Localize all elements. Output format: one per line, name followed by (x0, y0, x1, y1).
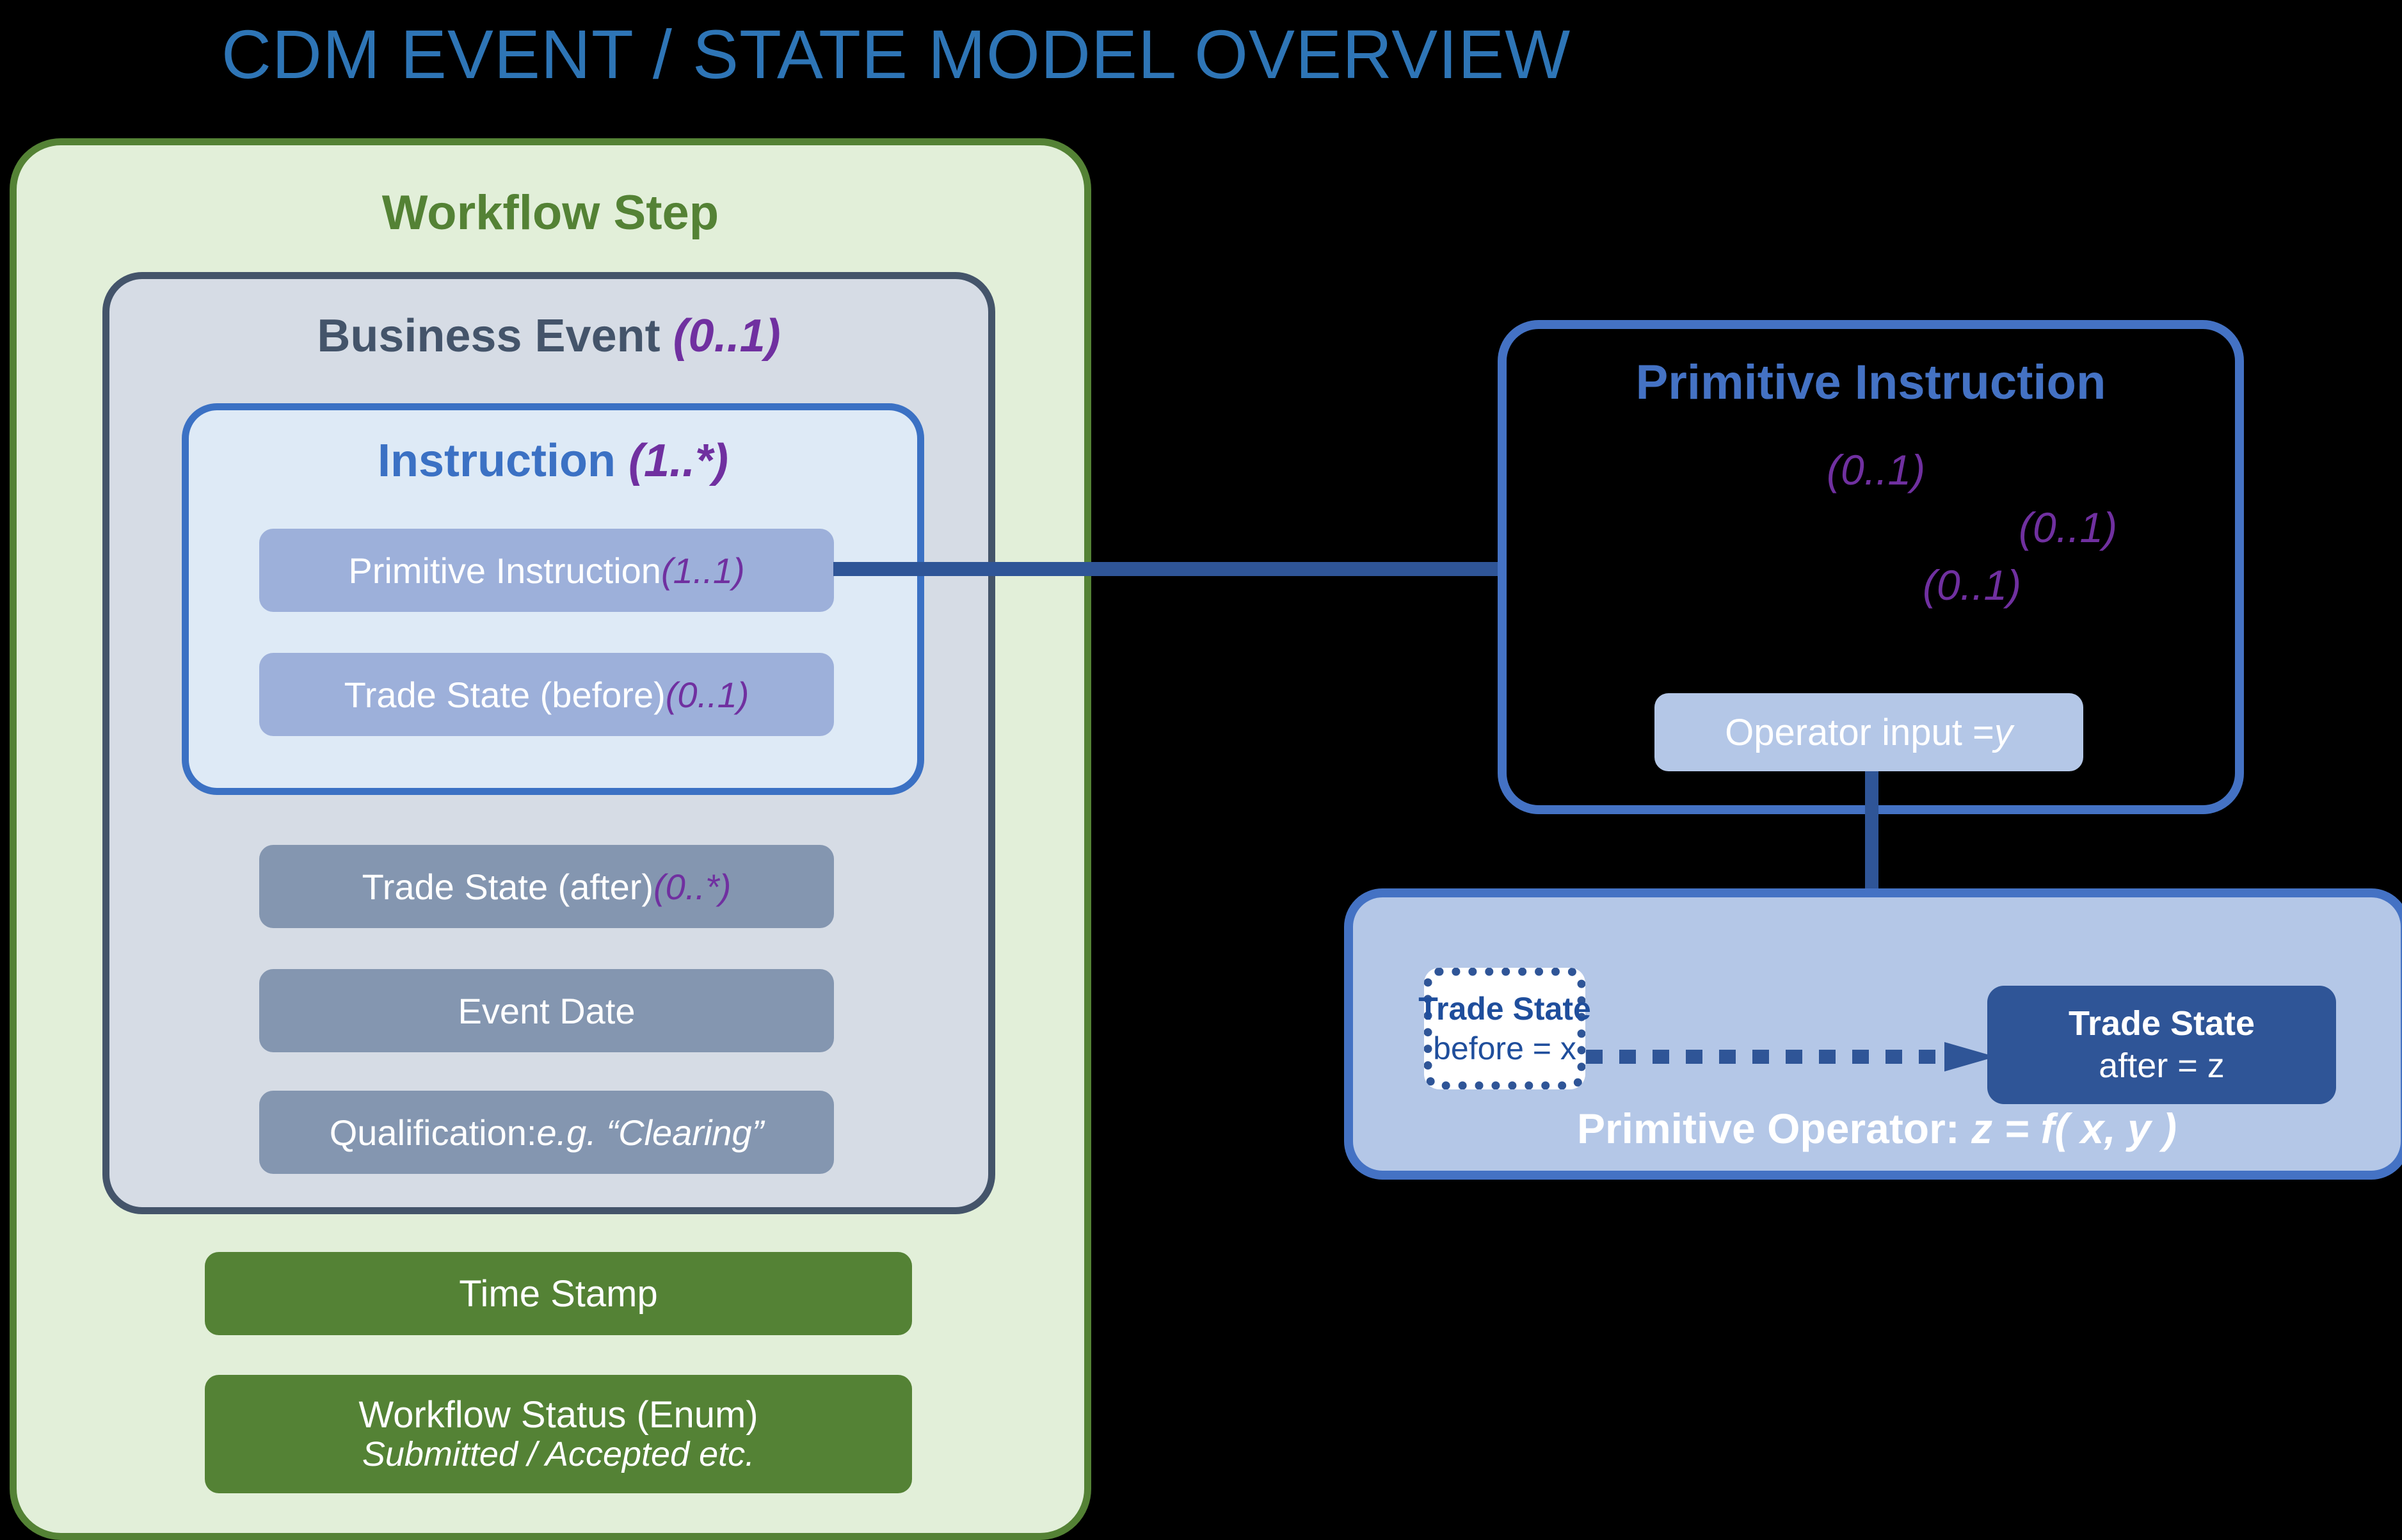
attribute-event-date[interactable]: Event Date (259, 969, 834, 1052)
primitive-instruction-cardinality-2: (0..1) (2019, 503, 2117, 552)
primitive-instruction-cardinality-3: (0..1) (1923, 561, 2021, 609)
attribute-cardinality: (0..*) (653, 866, 731, 908)
connector-instruction-to-primitive-instruction (833, 562, 1501, 576)
business-event-cardinality: (0..1) (673, 310, 781, 362)
business-event-title: Business Event (0..1) (109, 310, 988, 362)
primitive-instruction-title: Primitive Instruction (1507, 355, 2235, 410)
instruction-cardinality: (1..*) (629, 435, 728, 486)
workflow-step-title: Workflow Step (17, 185, 1084, 241)
attribute-label: Primitive Instruction (348, 550, 661, 591)
primitive-operator-formula: z = f( x, y ) (1971, 1105, 2177, 1152)
attribute-example: e.g. “Clearing” (536, 1112, 764, 1153)
attribute-label: Time Stamp (459, 1272, 657, 1315)
card-trade-state-after[interactable]: Trade State after = z (1987, 986, 2336, 1104)
attribute-label: Operator input = (1725, 711, 1994, 754)
attribute-operator-input[interactable]: Operator input = y (1654, 693, 2083, 771)
card-header: Trade State (2069, 1003, 2255, 1045)
attribute-primitive-instruction[interactable]: Primitive Instruction (1..1) (259, 529, 834, 612)
attribute-variable: y (1994, 711, 2013, 754)
diagram-canvas: CDM EVENT / STATE MODEL OVERVIEW Workflo… (0, 0, 2402, 1540)
attribute-enum-values: Submitted / Accepted etc. (362, 1436, 755, 1473)
attribute-cardinality: (1..1) (661, 550, 745, 591)
primitive-instruction-cardinality-1: (0..1) (1827, 445, 1925, 494)
instruction-title: Instruction (1..*) (189, 435, 917, 487)
attribute-workflow-status[interactable]: Workflow Status (Enum) Submitted / Accep… (205, 1375, 912, 1493)
instruction-label: Instruction (378, 435, 629, 486)
primitive-operator-label: Primitive Operator (1577, 1105, 1946, 1152)
primitive-operator-caption: Primitive Operator: z = f( x, y ) (1353, 1104, 2401, 1153)
business-event-label: Business Event (317, 310, 673, 362)
card-header: Trade State (1418, 989, 1591, 1029)
attribute-cardinality: (0..1) (666, 674, 749, 716)
attribute-label: Qualification: (330, 1112, 537, 1153)
attribute-trade-state-after[interactable]: Trade State (after) (0..*) (259, 845, 834, 928)
attribute-trade-state-before[interactable]: Trade State (before) (0..1) (259, 653, 834, 736)
page-title: CDM EVENT / STATE MODEL OVERVIEW (0, 14, 1792, 94)
card-trade-state-before[interactable]: Trade State before = x (1424, 968, 1585, 1089)
attribute-label: Workflow Status (Enum) (358, 1395, 758, 1436)
attribute-label: Event Date (458, 990, 635, 1032)
attribute-label: Trade State (after) (362, 866, 653, 908)
card-value: after = z (2099, 1045, 2225, 1087)
attribute-time-stamp[interactable]: Time Stamp (205, 1252, 912, 1335)
primitive-operator-separator: : (1946, 1105, 1971, 1152)
attribute-qualification[interactable]: Qualification: e.g. “Clearing” (259, 1091, 834, 1174)
attribute-label: Trade State (before) (344, 674, 666, 716)
card-value: before = x (1433, 1029, 1576, 1069)
